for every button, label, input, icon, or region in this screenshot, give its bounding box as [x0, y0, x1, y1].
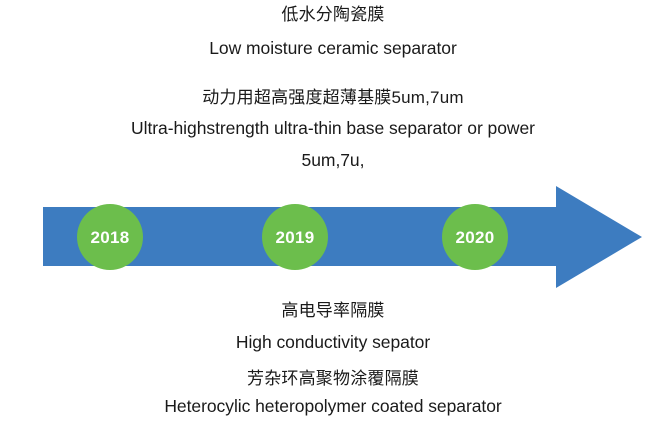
above-timeline-line-1: 低水分陶瓷膜: [0, 6, 666, 23]
milestone-2019-label: 2019: [275, 229, 314, 246]
below-timeline-line-3-text: 芳杂环高聚物涂覆隔膜: [0, 370, 666, 387]
below-timeline-line-1: 高电导率隔膜: [0, 302, 666, 319]
below-timeline-line-4-text: Heterocylic heteropolymer coated separat…: [0, 398, 666, 416]
timeline-diagram: 低水分陶瓷膜 Low moisture ceramic separator 动力…: [0, 0, 666, 439]
below-timeline-line-2-text: High conductivity sepator: [0, 334, 666, 352]
above-timeline-line-5: 5um,7u,: [0, 152, 666, 170]
above-timeline-line-3: 动力用超高强度超薄基膜5um,7um: [0, 89, 666, 106]
below-timeline-line-3: 芳杂环高聚物涂覆隔膜: [0, 370, 666, 387]
below-timeline-line-2: High conductivity sepator: [0, 334, 666, 352]
below-timeline-line-4: Heterocylic heteropolymer coated separat…: [0, 398, 666, 416]
above-timeline-line-2-text: Low moisture ceramic separator: [0, 40, 666, 58]
above-timeline-line-5-text: 5um,7u,: [0, 152, 666, 170]
above-timeline-line-1-text: 低水分陶瓷膜: [0, 6, 666, 23]
milestone-2018[interactable]: 2018: [77, 204, 143, 270]
milestone-2019[interactable]: 2019: [262, 204, 328, 270]
above-timeline-line-4: Ultra-highstrength ultra-thin base separ…: [0, 120, 666, 138]
above-timeline-line-3-text: 动力用超高强度超薄基膜5um,7um: [0, 89, 666, 106]
above-timeline-line-2: Low moisture ceramic separator: [0, 40, 666, 58]
milestone-2020[interactable]: 2020: [442, 204, 508, 270]
milestone-2020-label: 2020: [455, 229, 494, 246]
milestone-2018-label: 2018: [90, 229, 129, 246]
above-timeline-line-4-text: Ultra-highstrength ultra-thin base separ…: [0, 120, 666, 138]
below-timeline-line-1-text: 高电导率隔膜: [0, 302, 666, 319]
